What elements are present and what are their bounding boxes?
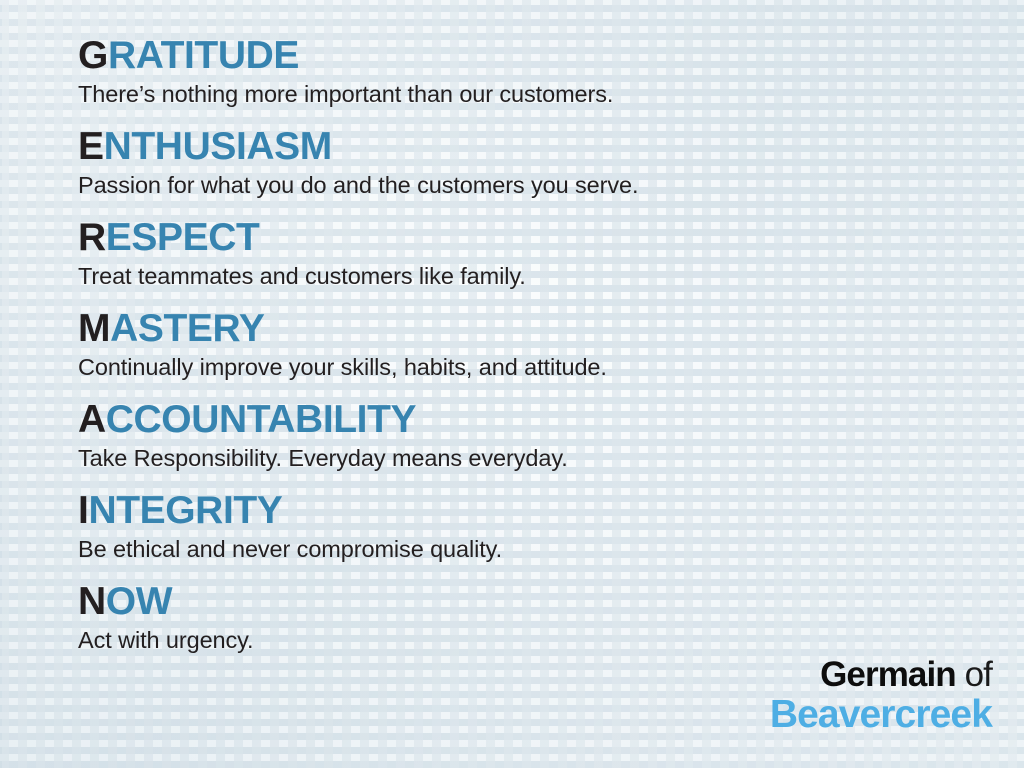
value-description-now: Act with urgency.: [78, 626, 958, 655]
value-heading-remainder: RATITUDE: [108, 34, 299, 77]
value-description-enthusiasm: Passion for what you do and the customer…: [78, 171, 958, 200]
value-description-integrity: Be ethical and never compromise quality.: [78, 535, 958, 564]
logo-primary-line: Germain of: [770, 656, 992, 694]
value-heading-integrity: INTEGRITY: [78, 489, 958, 533]
value-initial-letter: M: [78, 307, 110, 350]
logo-location-name: Beavercreek: [770, 694, 992, 736]
value-initial-letter: R: [78, 216, 106, 259]
value-heading-remainder: ASTERY: [110, 307, 264, 350]
logo-connector-word: of: [956, 655, 992, 694]
value-description-accountability: Take Responsibility. Everyday means ever…: [78, 444, 958, 473]
dealership-logo: Germain of Beavercreek: [770, 656, 992, 736]
value-heading-gratitude: GRATITUDE: [78, 34, 958, 78]
value-heading-remainder: CCOUNTABILITY: [106, 398, 416, 441]
value-initial-letter: A: [78, 398, 106, 441]
value-block-now: NOW Act with urgency.: [78, 580, 958, 655]
core-values-list: GRATITUDE There’s nothing more important…: [78, 34, 958, 671]
value-heading-accountability: ACCOUNTABILITY: [78, 398, 958, 442]
values-poster: GRATITUDE There’s nothing more important…: [0, 0, 1024, 768]
value-block-respect: RESPECT Treat teammates and customers li…: [78, 216, 958, 291]
value-heading-enthusiasm: ENTHUSIASM: [78, 125, 958, 169]
value-heading-now: NOW: [78, 580, 958, 624]
value-heading-remainder: ESPECT: [106, 216, 260, 259]
value-heading-respect: RESPECT: [78, 216, 958, 260]
value-description-gratitude: There’s nothing more important than our …: [78, 80, 958, 109]
value-description-mastery: Continually improve your skills, habits,…: [78, 353, 958, 382]
logo-brand-name: Germain: [820, 655, 956, 694]
value-heading-remainder: NTHUSIASM: [104, 125, 332, 168]
value-initial-letter: E: [78, 125, 104, 168]
value-heading-mastery: MASTERY: [78, 307, 958, 351]
value-block-integrity: INTEGRITY Be ethical and never compromis…: [78, 489, 958, 564]
value-block-mastery: MASTERY Continually improve your skills,…: [78, 307, 958, 382]
value-initial-letter: N: [78, 580, 106, 623]
value-heading-remainder: OW: [106, 580, 172, 623]
value-initial-letter: G: [78, 34, 108, 77]
value-block-enthusiasm: ENTHUSIASM Passion for what you do and t…: [78, 125, 958, 200]
value-block-accountability: ACCOUNTABILITY Take Responsibility. Ever…: [78, 398, 958, 473]
value-initial-letter: I: [78, 489, 88, 532]
value-description-respect: Treat teammates and customers like famil…: [78, 262, 958, 291]
value-block-gratitude: GRATITUDE There’s nothing more important…: [78, 34, 958, 109]
value-heading-remainder: NTEGRITY: [88, 489, 282, 532]
